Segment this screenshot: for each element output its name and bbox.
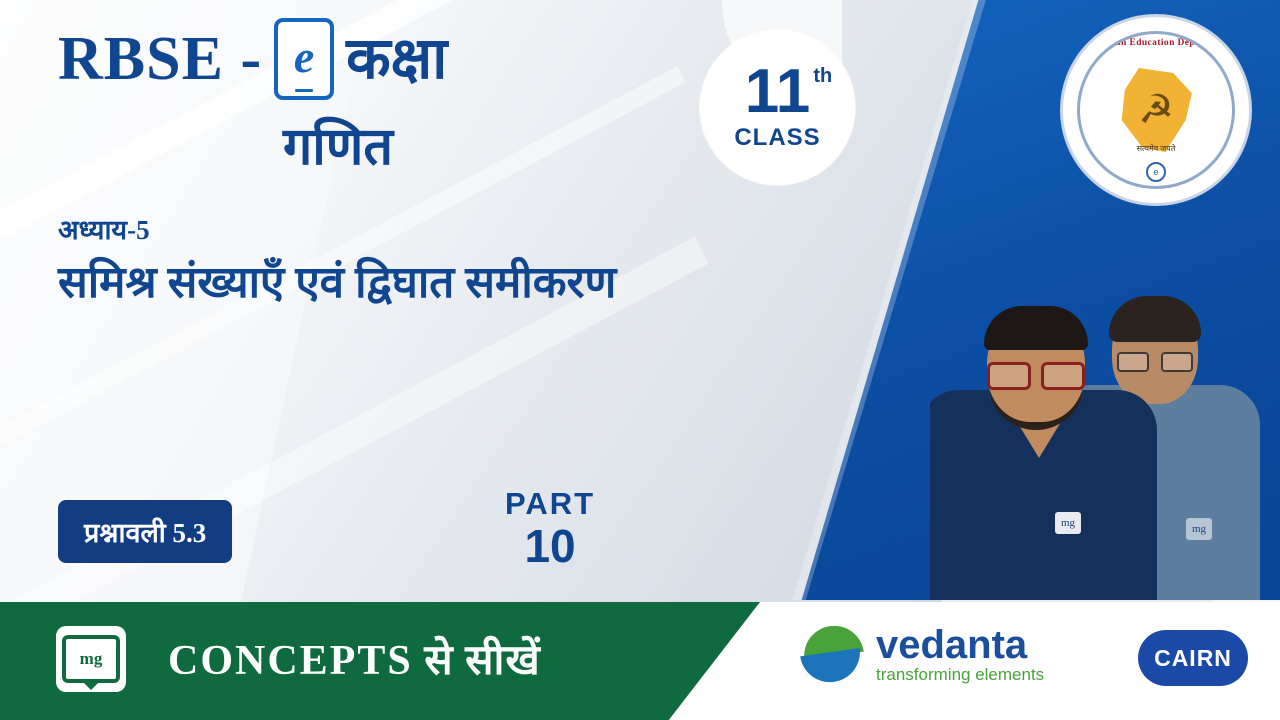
shirt-logo: mg: [1055, 512, 1081, 534]
part-label: PART: [505, 487, 595, 521]
vedanta-logo: vedanta transforming elements: [800, 622, 1044, 686]
subject-title: गणित: [58, 122, 618, 174]
brand-rbse: RBSE -: [58, 28, 262, 90]
presenter-front-hair: [984, 306, 1088, 350]
class-ordinal: th: [813, 67, 832, 86]
magnet-brains-logo: mg: [56, 626, 126, 692]
vedanta-wordmark: vedanta transforming elements: [876, 624, 1044, 684]
vedanta-mark-icon: [800, 622, 864, 686]
shirt-logo: mg: [1186, 518, 1212, 540]
seal-top-text: Rajasthan Education Department: [1080, 38, 1232, 48]
mg-board-icon: mg: [62, 635, 120, 683]
seal-motto: सत्यमेव जयते: [1080, 143, 1232, 154]
cairn-logo: CAIRN: [1138, 630, 1248, 686]
presenter-front: mg: [930, 255, 1160, 600]
brand-row: RBSE - e कक्षा: [58, 18, 758, 100]
footer-tagline-hi: से सीखें: [424, 638, 541, 684]
brand-kaksha: कक्षा: [346, 30, 447, 88]
video-thumbnail: mg mg Rajasthan Education Department ☭ स…: [0, 0, 1280, 720]
part-number: 10: [505, 521, 595, 572]
seal-inner-ring: Rajasthan Education Department ☭ सत्यमेव…: [1077, 31, 1235, 189]
title-block: RBSE - e कक्षा गणित अध्याय-5 समिश्र संख्…: [58, 18, 758, 310]
exercise-badge: प्रश्नावली 5.3: [58, 500, 232, 563]
chapter-number: अध्याय-5: [58, 210, 758, 247]
seal-bottom-mark: e: [1146, 162, 1166, 182]
footer-tagline-en: CONCEPTS: [168, 638, 413, 684]
ashoka-emblem-icon: ☭: [1138, 90, 1174, 130]
part-block: PART 10: [505, 487, 595, 572]
vedanta-name: vedanta: [876, 624, 1044, 666]
chapter-title: समिश्र संख्याएँ एवं द्विघात समीकरण: [58, 255, 758, 310]
rajasthan-education-department-seal: Rajasthan Education Department ☭ सत्यमेव…: [1060, 14, 1252, 206]
footer-tagline: CONCEPTS से सीखें: [168, 630, 541, 687]
vedanta-tagline: transforming elements: [876, 666, 1044, 684]
e-tablet-icon: e: [274, 18, 334, 100]
presenter-photos: mg mg: [930, 240, 1280, 600]
footer-bar: mg CONCEPTS से सीखें vedanta transformin…: [0, 602, 1280, 720]
glasses-icon: [987, 362, 1085, 384]
rajasthan-map-icon: ☭: [1117, 68, 1195, 152]
e-letter: e: [294, 34, 314, 80]
